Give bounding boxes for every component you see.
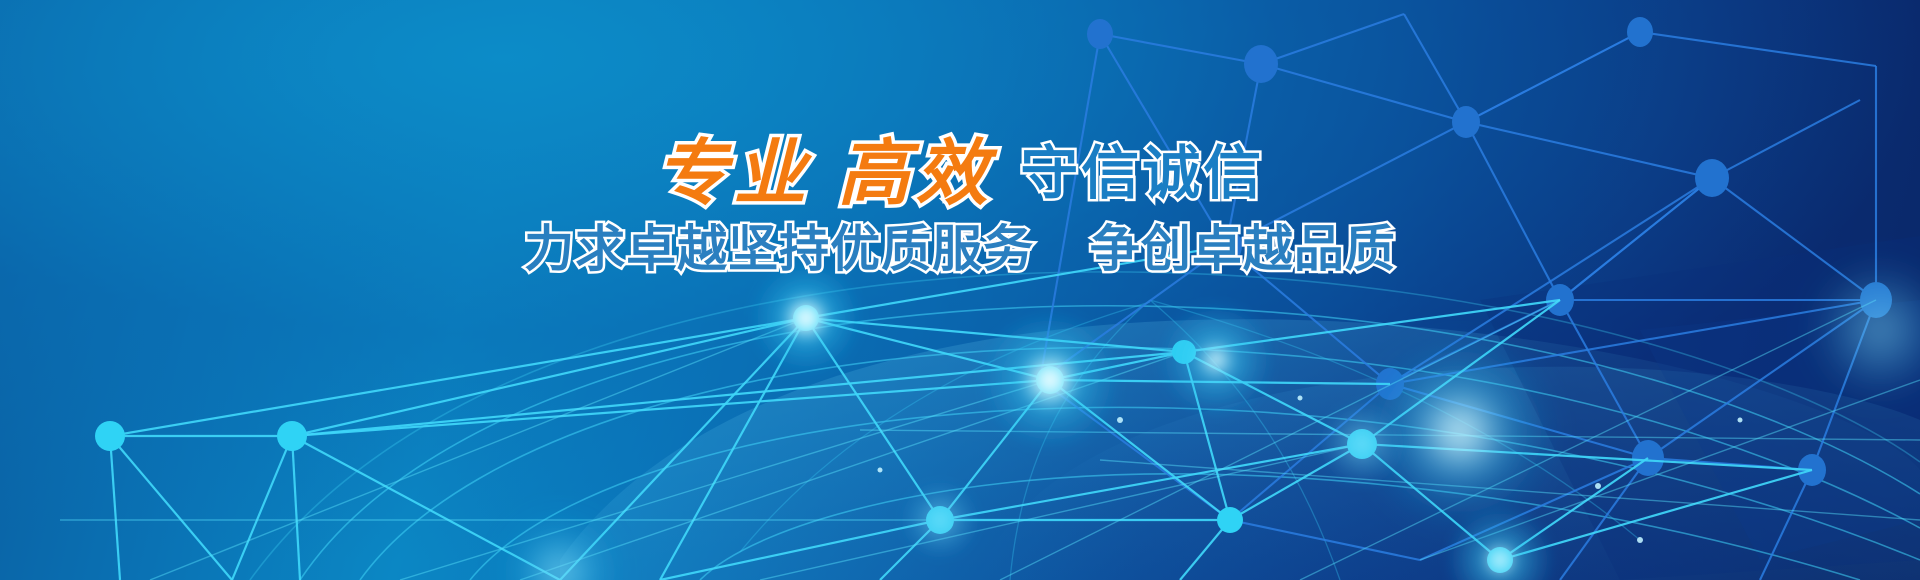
banner-subheading: 力求卓越坚持优质服务 争创卓越品质	[0, 224, 1920, 274]
subheading-right-text: 争创卓越品质	[1090, 221, 1396, 277]
banner-headline: 专业 高效 守信诚信	[0, 138, 1920, 210]
promo-banner: 专业 高效 守信诚信 力求卓越坚持优质服务 争创卓越品质	[0, 0, 1920, 580]
subheading-left-text: 力求卓越坚持优质服务	[524, 221, 1034, 277]
headline-white-text: 守信诚信	[1020, 141, 1264, 206]
headline-accent-text: 专业 高效	[656, 134, 994, 214]
network-globe-graphic	[0, 0, 1920, 580]
